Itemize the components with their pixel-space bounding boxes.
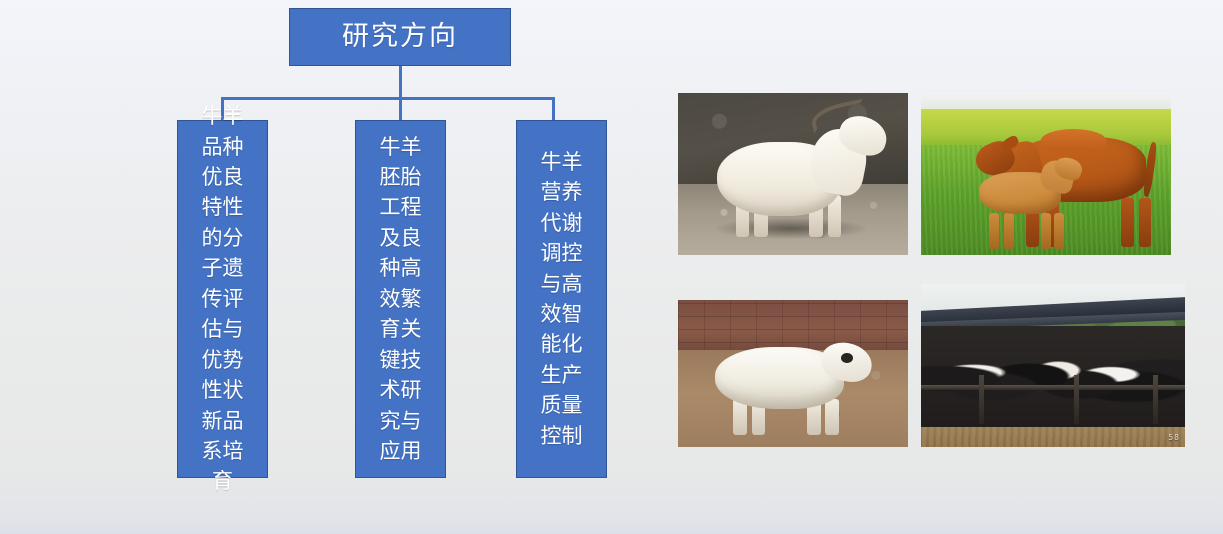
slide-canvas: 研究方向 牛羊品种优良特性的分子遗传评估与优势性状新品系培育 牛羊胚胎工程及良种…	[0, 0, 1223, 534]
feed-rail	[921, 385, 1185, 390]
connector-horizontal-bar	[221, 97, 555, 100]
feed-rail-post	[979, 375, 984, 424]
sheep-leg	[825, 399, 839, 436]
photo-white-sheep	[678, 300, 908, 447]
sheep-pen-scene	[678, 300, 908, 447]
branch-node-2-label: 牛羊胚胎工程及良种高效繁育关键技术研究与应用	[370, 132, 432, 467]
connector-drop-branch-3	[552, 97, 555, 121]
connector-drop-branch-2	[399, 97, 402, 121]
connector-stem-top	[399, 66, 402, 99]
dairy-barn-scene: 58	[921, 284, 1185, 447]
cow-hump	[1041, 129, 1106, 152]
photo-cow-and-calf	[921, 93, 1171, 255]
photo-dairy-herd: 58	[921, 284, 1185, 447]
cow-leg	[1121, 198, 1134, 247]
calf-leg	[1054, 213, 1064, 249]
goat-scene	[678, 93, 908, 255]
org-chart-title-node[interactable]: 研究方向	[289, 8, 511, 66]
calf-leg	[1004, 213, 1014, 249]
pasture-scene	[921, 93, 1171, 255]
feed-rail-post	[1153, 375, 1158, 424]
photo-watermark: 58	[1168, 433, 1180, 442]
org-chart-branch-node-3[interactable]: 牛羊营养代谢调控与高效智能化生产质量控制	[516, 120, 607, 478]
org-chart-title-label: 研究方向	[342, 19, 458, 55]
calf-leg	[989, 213, 999, 249]
cow-leg	[1139, 198, 1152, 247]
feed-rail-post	[1074, 375, 1079, 424]
sheep-eye	[841, 353, 853, 363]
branch-node-3-label: 牛羊营养代谢调控与高效智能化生产质量控制	[531, 147, 593, 451]
calf-leg	[1041, 213, 1051, 249]
org-chart-branch-node-2[interactable]: 牛羊胚胎工程及良种高效繁育关键技术研究与应用	[355, 120, 446, 478]
org-chart-branch-node-1[interactable]: 牛羊品种优良特性的分子遗传评估与优势性状新品系培育	[177, 120, 268, 478]
photo-cashmere-goat	[678, 93, 908, 255]
branch-node-1-label: 牛羊品种优良特性的分子遗传评估与优势性状新品系培育	[192, 101, 254, 497]
holstein-herd	[921, 326, 1185, 427]
